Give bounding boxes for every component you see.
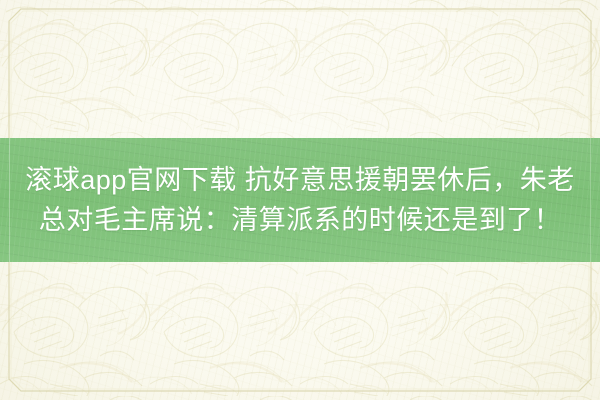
- headline-line-1: 滚球app官网下载 抗好意思援朝罢休后，朱老: [25, 161, 575, 199]
- title-banner: 滚球app官网下载 抗好意思援朝罢休后，朱老 总对毛主席说：清算派系的时候还是到…: [0, 138, 600, 262]
- headline-text-block: 滚球app官网下载 抗好意思援朝罢休后，朱老 总对毛主席说：清算派系的时候还是到…: [0, 138, 600, 262]
- headline-line-2: 总对毛主席说：清算派系的时候还是到了！: [39, 201, 562, 239]
- poster-image: 滚球app官网下载 抗好意思援朝罢休后，朱老 总对毛主席说：清算派系的时候还是到…: [0, 0, 600, 400]
